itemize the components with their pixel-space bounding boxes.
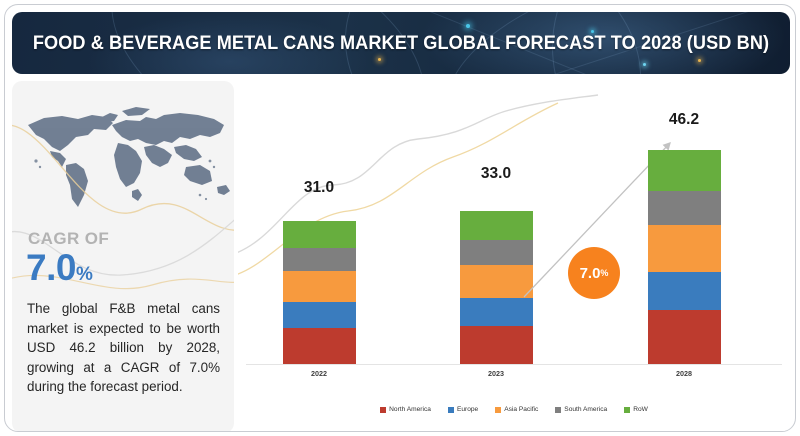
legend-item-europe[interactable]: Europe <box>448 406 478 413</box>
legend-swatch-north-america <box>380 407 386 413</box>
cagr-callout-value: 7.0 <box>580 265 601 282</box>
sidebar-panel: CAGR OF 7.0% The global F&B metal cans m… <box>12 81 234 432</box>
bar-segment-europe-2022 <box>283 302 356 328</box>
legend-swatch-asia-pacific <box>495 407 501 413</box>
page-title: FOOD & BEVERAGE METAL CANS MARKET GLOBAL… <box>39 12 763 74</box>
cagr-callout-bubble[interactable]: 7.0% <box>568 247 620 299</box>
chart-panel: 31.0 2022 33.0 2023 <box>238 81 790 432</box>
legend-swatch-row <box>624 407 630 413</box>
x-tick-label-2028: 2028 <box>639 369 729 378</box>
legend-label-asia-pacific: Asia Pacific <box>504 406 538 413</box>
cagr-callout-percent-sign: % <box>600 268 608 278</box>
header-banner: FOOD & BEVERAGE METAL CANS MARKET GLOBAL… <box>12 12 790 74</box>
chart-legend: North America Europe Asia Pacific South … <box>238 406 790 413</box>
bar-segment-row-2022 <box>283 221 356 248</box>
legend-label-north-america: North America <box>389 406 431 413</box>
legend-swatch-europe <box>448 407 454 413</box>
legend-item-north-america[interactable]: North America <box>380 406 431 413</box>
legend-label-row: RoW <box>633 406 648 413</box>
legend-item-asia-pacific[interactable]: Asia Pacific <box>495 406 538 413</box>
cagr-value: 7.0% <box>26 247 92 289</box>
bar-2022[interactable] <box>283 221 356 364</box>
legend-label-europe: Europe <box>457 406 478 413</box>
cagr-label: CAGR OF <box>28 229 109 249</box>
legend-label-south-america: South America <box>564 406 607 413</box>
bar-total-label-2022: 31.0 <box>274 179 364 197</box>
bar-segment-row-2028 <box>648 150 721 191</box>
cagr-number: 7.0 <box>26 247 76 288</box>
chart-baseline <box>246 364 782 365</box>
legend-item-row[interactable]: RoW <box>624 406 648 413</box>
bar-2028[interactable] <box>648 150 721 364</box>
infographic-frame: FOOD & BEVERAGE METAL CANS MARKET GLOBAL… <box>4 4 796 432</box>
bar-segment-asia-pacific-2028 <box>648 225 721 272</box>
bar-segment-europe-2028 <box>648 272 721 311</box>
bar-segment-south-america-2022 <box>283 248 356 271</box>
bar-segment-asia-pacific-2022 <box>283 271 356 302</box>
bar-segment-south-america-2028 <box>648 191 721 225</box>
bar-segment-north-america-2028 <box>648 310 721 364</box>
cagr-percent-sign: % <box>76 264 92 285</box>
legend-item-south-america[interactable]: South America <box>555 406 607 413</box>
bar-total-label-2028: 46.2 <box>639 111 729 129</box>
bar-segment-north-america-2022 <box>283 328 356 364</box>
bar-segment-north-america-2023 <box>460 326 533 364</box>
legend-swatch-south-america <box>555 407 561 413</box>
x-tick-label-2023: 2023 <box>451 369 541 378</box>
sidebar-description: The global F&B metal cans market is expe… <box>27 299 220 397</box>
x-tick-label-2022: 2022 <box>274 369 364 378</box>
